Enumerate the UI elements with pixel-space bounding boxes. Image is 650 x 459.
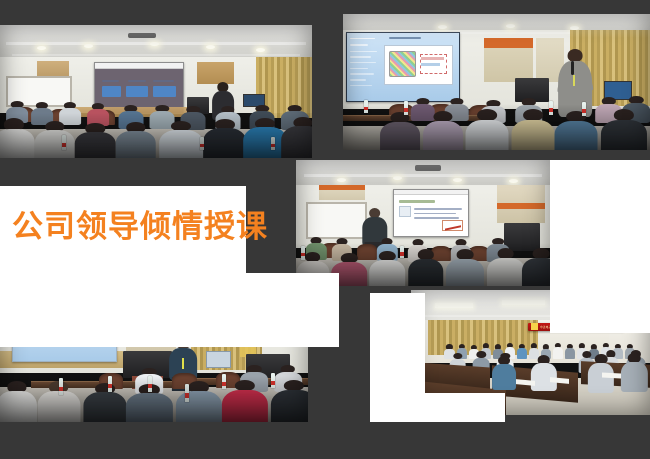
- audience-body: [621, 362, 647, 392]
- photo1-scene: [0, 25, 312, 158]
- slide-text-line: [350, 62, 376, 64]
- slide-text-line: [350, 51, 377, 53]
- collage-canvas: 中达电子集团2010年度新员工训练营: [0, 0, 650, 459]
- slide-text-line: [414, 213, 456, 215]
- wall-accent-band: [484, 38, 533, 48]
- slide-text-line: [102, 80, 120, 82]
- audience-figure: [492, 356, 516, 389]
- diagram-bar: [421, 63, 440, 66]
- photo-lecture-hall-female-presenter[interactable]: [0, 25, 312, 158]
- wall-panel: [197, 62, 234, 83]
- highlight-overlay: [296, 160, 550, 183]
- slide-arrow: [153, 86, 176, 97]
- slide-header: [95, 63, 183, 69]
- microphone-icon: [571, 61, 574, 75]
- slide-text-line: [153, 80, 174, 82]
- slide-title: [399, 200, 435, 203]
- slide-text-line: [350, 44, 367, 46]
- slide-text-line: [414, 208, 461, 210]
- photo3-scene: [296, 160, 550, 286]
- slide-diagram-panel: [384, 45, 453, 85]
- projector-screen: [393, 189, 469, 237]
- lanyard-badge: [182, 358, 184, 368]
- highlight-overlay: [343, 14, 650, 38]
- diagram-block: [389, 51, 416, 77]
- audience-body: [492, 364, 516, 390]
- wall-accent-band: [497, 203, 545, 209]
- slide-text-line: [350, 56, 370, 58]
- slide-arrow: [102, 86, 121, 97]
- paper: [550, 377, 569, 384]
- page-title: 公司领导倾情授课: [12, 212, 268, 243]
- slide-text-line: [350, 68, 368, 70]
- roll-up-banner: [206, 351, 231, 367]
- photo-lecture-hall-male-presenter-center[interactable]: [296, 160, 550, 286]
- slide-text-line: [350, 85, 371, 87]
- projector-screen: [346, 32, 460, 103]
- photo-lecture-hall-male-presenter-standing[interactable]: [343, 14, 650, 150]
- shadow-overlay: [343, 104, 650, 150]
- photo2-scene: [343, 14, 650, 150]
- slide-text-column: [350, 35, 379, 98]
- highlight-overlay: [0, 25, 312, 49]
- banner-emblem: [531, 323, 538, 330]
- shadow-overlay: [0, 113, 312, 158]
- slide-image-box: [399, 206, 411, 217]
- wall-accent-band: [319, 185, 365, 190]
- paper: [602, 372, 621, 378]
- slide-header: [394, 190, 468, 196]
- slide-text-line: [128, 80, 146, 82]
- white-filler-right: [550, 160, 650, 333]
- slide-text-line: [350, 73, 373, 75]
- slide-arrow: [126, 86, 147, 97]
- diagram-bar: [421, 57, 444, 60]
- caption-band-extension: [0, 273, 339, 347]
- lanyard-badge: [573, 75, 575, 85]
- shadow-overlay: [0, 376, 308, 422]
- slide-text-line: [414, 217, 459, 219]
- white-filler-bottom-right-2: [370, 393, 505, 422]
- whiteboard: [306, 202, 367, 240]
- slide-text-line: [350, 79, 366, 81]
- audience-figure: [621, 353, 647, 391]
- slide-line-chart: [442, 220, 463, 231]
